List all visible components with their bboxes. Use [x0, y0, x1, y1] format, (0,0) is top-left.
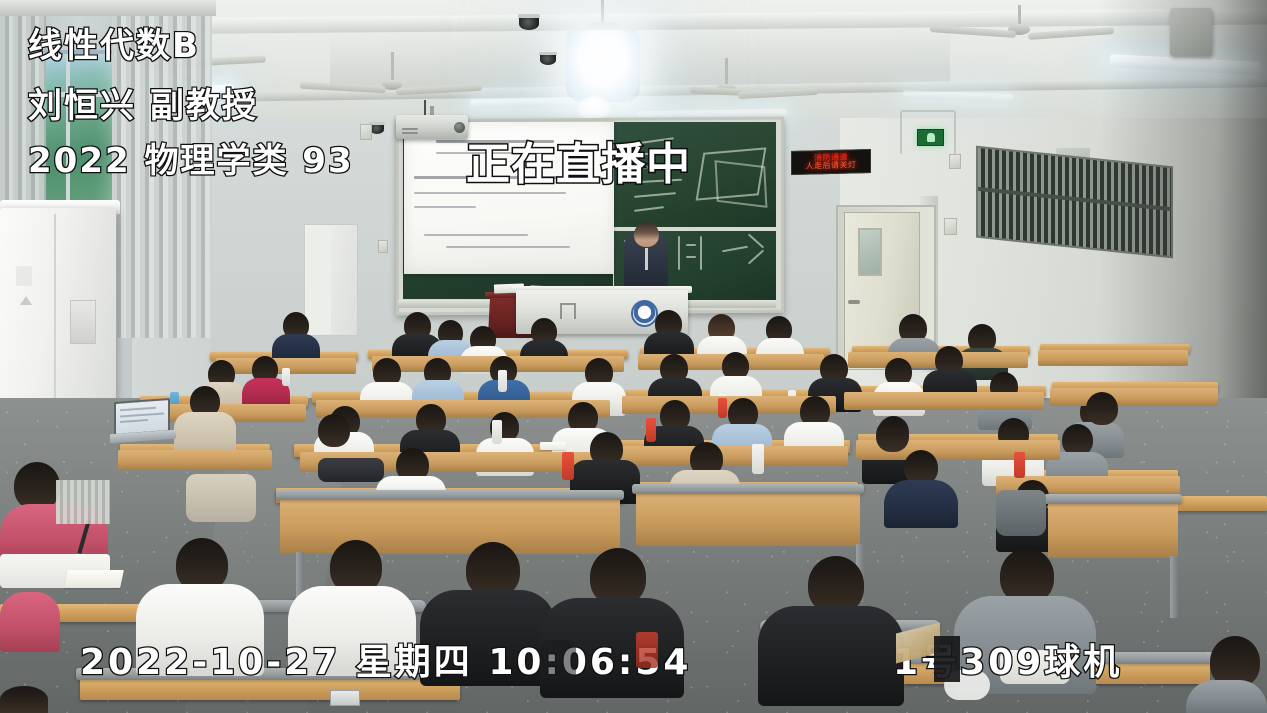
- pendant-lamp-glow: [566, 30, 640, 102]
- slide-text-line: [424, 234, 528, 236]
- chalk-diagram: [715, 160, 768, 208]
- projector-lens-icon: [454, 122, 465, 133]
- chair-back-rail: [1044, 494, 1182, 504]
- door-handle: [848, 300, 860, 304]
- chair-back-rail: [632, 484, 864, 494]
- dome-camera-icon: [519, 18, 539, 30]
- notebook: [64, 570, 124, 588]
- chair-back-wood: [316, 400, 610, 418]
- osd-timestamp: 2022-10-27 星期四 10:06:54: [80, 633, 691, 685]
- osd-live-banner: 正在直播中: [466, 128, 691, 192]
- osd-instructor: 刘恒兴 副教授: [28, 78, 258, 127]
- chair-back-wood: [1050, 388, 1218, 406]
- air-conditioner-seam: [54, 214, 56, 410]
- water-bottle: [1014, 452, 1025, 478]
- osd-camera-label: 1号309球机: [893, 633, 1122, 685]
- radiator: [56, 480, 110, 524]
- student-head: [14, 462, 60, 510]
- coat: [186, 474, 256, 522]
- paper-sheet: [540, 442, 566, 450]
- chair-back-rail: [276, 490, 624, 500]
- podium-badge-icon: [560, 303, 576, 319]
- warning-triangle-icon: [20, 296, 32, 305]
- water-bottle: [562, 452, 574, 480]
- student-torso: [1186, 680, 1267, 713]
- chair-back-wood: [118, 450, 272, 470]
- wall-switch-plate: [360, 124, 372, 140]
- osd-class-info: 2022 物理学类 93: [28, 133, 354, 182]
- dome-camera-icon: [540, 55, 556, 65]
- student-torso: [884, 480, 958, 528]
- chair-back-wood: [636, 490, 860, 546]
- backpack: [996, 490, 1046, 536]
- desk-leg: [1170, 556, 1178, 618]
- dome-camera-icon: [370, 125, 384, 134]
- chair-back-wood: [1038, 350, 1188, 366]
- air-conditioner-label: [16, 266, 32, 286]
- osd-course-title: 线性代数B: [28, 18, 200, 67]
- lanyard: [645, 248, 648, 270]
- chair-back-wood: [844, 392, 1044, 410]
- ceiling-soffit: [330, 27, 950, 89]
- water-bottle: [492, 420, 502, 444]
- slide-text-line: [414, 206, 476, 208]
- desk-number-card: [330, 690, 360, 706]
- running-person-glyph: [927, 133, 935, 142]
- blinds-headrail: [0, 0, 216, 16]
- projector-vent: [402, 132, 418, 134]
- university-emblem-icon: [631, 300, 658, 327]
- ceiling-fan-rod: [391, 52, 394, 82]
- slide-text-line: [446, 246, 570, 248]
- student-head: [318, 414, 350, 447]
- chalk-stroke: [686, 256, 696, 258]
- led-line-2: 人走后请关灯: [806, 161, 857, 170]
- lens-flare: [578, 96, 610, 120]
- student-torso: [0, 592, 60, 652]
- chalk-stroke: [700, 236, 702, 270]
- led-marquee-sign: 消防通道 人走后请关灯: [791, 149, 871, 175]
- chair-back-wood: [1048, 500, 1178, 558]
- door-window: [858, 228, 882, 276]
- wall-plate: [949, 154, 961, 169]
- cabinet-door: [306, 226, 331, 334]
- student-head: [0, 686, 48, 713]
- water-bottle: [646, 418, 656, 442]
- wall-outlet-plate: [378, 240, 388, 253]
- led-marquee-text: 消防通道 人走后请关灯: [806, 153, 857, 170]
- water-bottle: [718, 398, 727, 418]
- slide-text-line: [414, 192, 566, 194]
- student-torso: [758, 606, 904, 706]
- student-head: [876, 418, 909, 452]
- projector-vent: [402, 128, 418, 130]
- water-bottle: [752, 444, 764, 474]
- water-bottle: [498, 370, 507, 392]
- student-head: [1086, 392, 1118, 425]
- chalk-stroke: [686, 244, 696, 246]
- air-conditioner-panel: [70, 300, 96, 344]
- air-conditioner-unit: [0, 208, 116, 412]
- instructor-head: [634, 222, 659, 247]
- chair-back-wood: [618, 446, 848, 466]
- camera-live-view: 消防通道 人走后请关灯: [0, 0, 1267, 713]
- ceiling-fan-rod: [725, 58, 728, 86]
- wall-plate: [944, 218, 957, 235]
- backpack: [318, 458, 384, 482]
- water-bottle: [282, 368, 290, 386]
- chalk-stroke: [678, 236, 680, 270]
- emergency-exit-icon: [917, 129, 944, 146]
- chair-back-wood: [280, 496, 620, 554]
